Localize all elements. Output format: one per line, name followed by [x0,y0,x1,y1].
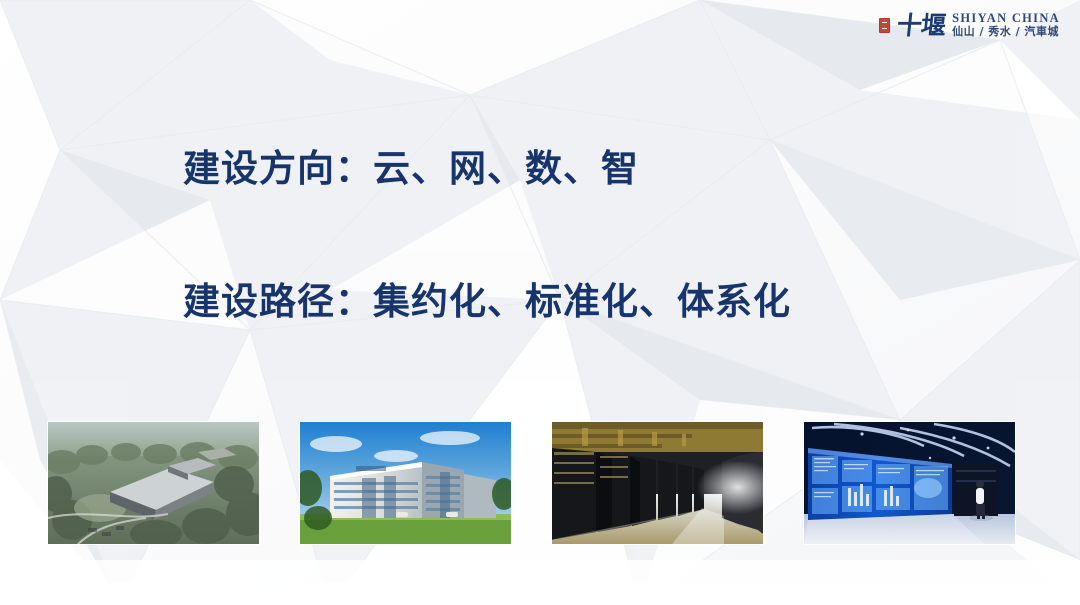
aerial-campus-photo [48,422,259,544]
heading-construction-direction: 建设方向：云、网、数、智 [183,148,983,189]
logo-calligraphy-mark: 十堰 [896,13,947,38]
data-center-photo [552,422,763,544]
logo-text-block: SHIYAN CHINA 仙山 / 秀水 / 汽車城 [952,12,1060,38]
heading-construction-path: 建设路径：集约化、标准化、体系化 [183,281,983,322]
office-building-photo [300,422,511,544]
bottom-white-band [0,583,1080,605]
control-room-photo [804,422,1015,544]
shiyan-logo: 十堰 SHIYAN CHINA 仙山 / 秀水 / 汽車城 [879,6,1060,44]
red-seal-icon [879,18,890,33]
logo-chinese-tagline: 仙山 / 秀水 / 汽車城 [952,26,1060,38]
logo-english-name: SHIYAN CHINA [952,12,1060,25]
headings-block: 建设方向：云、网、数、智 建设路径：集约化、标准化、体系化 [183,148,983,323]
slide-canvas: 十堰 SHIYAN CHINA 仙山 / 秀水 / 汽車城 建设方向：云、网、数… [0,0,1080,605]
photo-strip [48,422,1016,544]
